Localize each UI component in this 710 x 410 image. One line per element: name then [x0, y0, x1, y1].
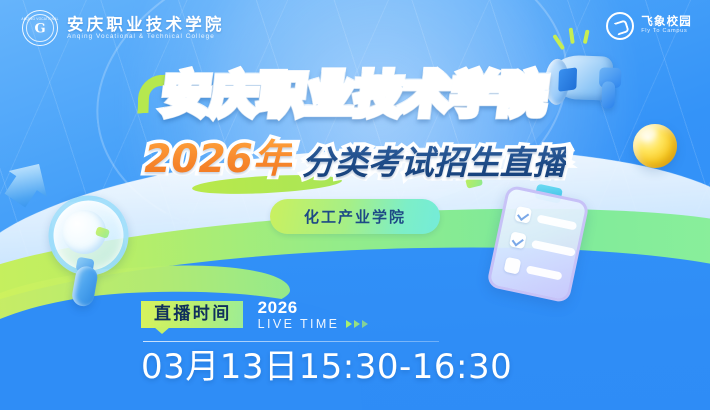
- main-title-wrap: 安庆职业技术学院 安庆职业技术学院: [163, 72, 547, 119]
- clipboard-line: [526, 265, 563, 280]
- live-time-label-en: LIVE TIME: [258, 318, 340, 331]
- divider: [143, 341, 439, 342]
- college-badge: 化工产业学院: [270, 199, 440, 234]
- school-logo: ANQING VOCATIONAL G 安庆职业技术学院 Anqing Voca…: [22, 10, 225, 46]
- live-time-block: 直播时间 2026 LIVE TIME: [141, 299, 368, 331]
- checkbox-checked-icon: [509, 231, 527, 249]
- school-name-en: Anqing Vocational & Technical College: [67, 34, 225, 40]
- headline-line-1: 安庆职业技术学院 安庆职业技术学院: [0, 72, 710, 119]
- headline-line-2: 2026年 2026年 分类考试招生直播 分类考试招生直播: [0, 140, 710, 179]
- platform-name-en: Fly To Campus: [641, 29, 692, 35]
- megaphone-spark: [569, 28, 575, 44]
- arrow-glyph: [354, 320, 360, 328]
- clipboard-row: [509, 231, 577, 259]
- title-year: 2026年: [144, 137, 292, 182]
- title-year-wrap: 2026年 2026年: [144, 140, 292, 179]
- arrow-glyph: [346, 320, 352, 328]
- fly-to-campus-mark-icon: [606, 12, 634, 40]
- platform-name-cn: 飞象校园: [641, 17, 692, 29]
- clipboard-line: [537, 214, 578, 230]
- live-time-tag: 直播时间: [141, 301, 243, 328]
- checkbox-empty-icon: [504, 257, 522, 275]
- clipboard-row: [514, 206, 578, 234]
- magnifier-icon: [31, 191, 140, 309]
- title-subline-wrap: 分类考试招生直播 分类考试招生直播: [302, 146, 566, 179]
- live-stream-poster: ANQING VOCATIONAL G 安庆职业技术学院 Anqing Voca…: [0, 0, 710, 410]
- live-datetime: 03月13日15:30-16:30: [141, 347, 512, 387]
- title-subline: 分类考试招生直播: [302, 143, 566, 182]
- crest-glyph: G: [34, 23, 45, 36]
- megaphone-spark: [583, 30, 590, 45]
- checkbox-checked-icon: [514, 206, 532, 224]
- school-crest-icon: ANQING VOCATIONAL G: [22, 10, 58, 46]
- clipboard-row: [504, 257, 564, 284]
- school-name-cn: 安庆职业技术学院: [67, 16, 225, 33]
- school-logo-text: 安庆职业技术学院 Anqing Vocational & Technical C…: [67, 16, 225, 41]
- platform-logo: 飞象校园 Fly To Campus: [606, 12, 692, 40]
- clipboard-line: [531, 239, 576, 256]
- megaphone-spark: [552, 34, 565, 50]
- chevron-right-arrows-icon: [346, 320, 368, 328]
- arrow-glyph: [362, 320, 368, 328]
- crest-ring-text: ANQING VOCATIONAL: [21, 17, 58, 21]
- platform-logo-text: 飞象校园 Fly To Campus: [641, 17, 692, 35]
- live-label-row: LIVE TIME: [258, 318, 369, 331]
- live-year: 2026: [258, 299, 369, 316]
- live-time-en-block: 2026 LIVE TIME: [258, 299, 369, 331]
- page-title: 安庆职业技术学院: [160, 72, 550, 119]
